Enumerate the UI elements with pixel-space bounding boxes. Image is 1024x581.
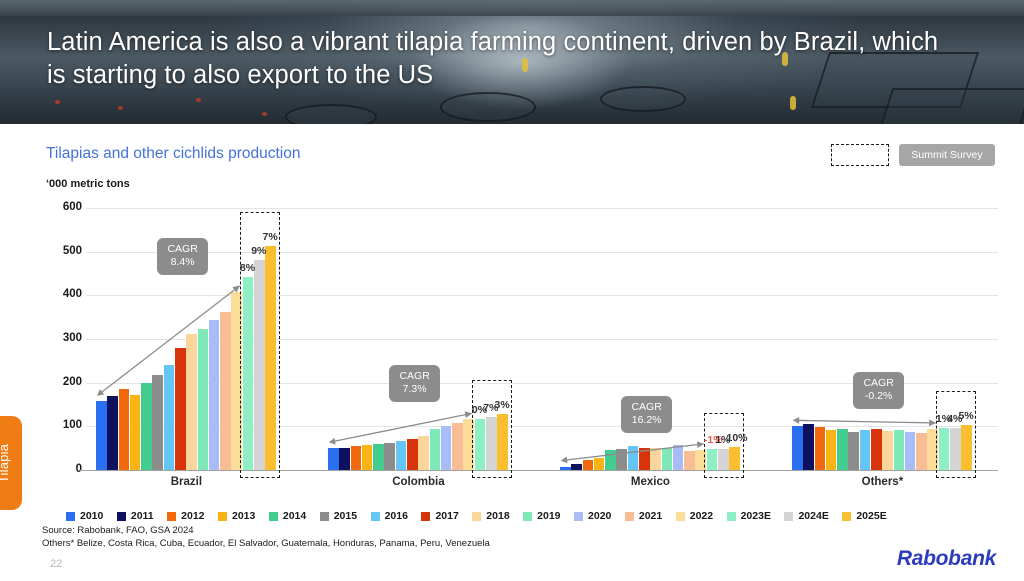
y-axis-tick: 300 (40, 332, 82, 344)
page-number: 22 (50, 558, 62, 570)
chart-unit-label: ‘000 metric tons (46, 178, 130, 190)
legend-swatch-icon (842, 512, 851, 521)
legend-label: 2014 (283, 510, 306, 522)
legend-swatch-icon (625, 512, 634, 521)
legend-item-2010[interactable]: 2010 (66, 510, 103, 522)
x-axis-category-label: Others* (792, 476, 973, 488)
forecast-key-box (831, 144, 889, 166)
buoy-icon (55, 100, 60, 104)
cagr-trend-arrow (86, 208, 998, 470)
legend-item-2025E[interactable]: 2025E (842, 510, 886, 522)
x-axis-line (80, 470, 998, 471)
legend-item-2012[interactable]: 2012 (167, 510, 204, 522)
banner-divider (0, 124, 1024, 126)
legend-swatch-icon (784, 512, 793, 521)
legend-item-2013[interactable]: 2013 (218, 510, 255, 522)
y-axis-tick: 100 (40, 419, 82, 431)
legend-label: 2023E (741, 510, 771, 522)
legend-label: 2015 (334, 510, 357, 522)
legend-item-2018[interactable]: 2018 (472, 510, 509, 522)
legend-swatch-icon (574, 512, 583, 521)
legend-label: 2021 (639, 510, 662, 522)
legend-label: 2022 (690, 510, 713, 522)
legend-swatch-icon (218, 512, 227, 521)
section-tab-tilapia[interactable]: Tilapia (0, 416, 22, 510)
section-tab-label: Tilapia (0, 443, 12, 482)
legend-label: 2012 (181, 510, 204, 522)
buoy-icon (262, 112, 267, 116)
legend-label: 2025E (856, 510, 886, 522)
legend-label: 2013 (232, 510, 255, 522)
legend-swatch-icon (472, 512, 481, 521)
legend-item-2017[interactable]: 2017 (421, 510, 458, 522)
chart-plot-area: Brazil8%9%7%CAGR8.4%Colombia0%7%3%CAGR7.… (86, 208, 998, 470)
legend-swatch-icon (269, 512, 278, 521)
fish-cage-icon (285, 104, 377, 124)
legend-label: 2011 (131, 510, 154, 522)
y-axis-tick: 600 (40, 201, 82, 213)
legend-swatch-icon (523, 512, 532, 521)
legend-item-2020[interactable]: 2020 (574, 510, 611, 522)
legend-item-2019[interactable]: 2019 (523, 510, 560, 522)
legend-item-2023E[interactable]: 2023E (727, 510, 771, 522)
summit-survey-badge[interactable]: Summit Survey (899, 144, 995, 166)
legend-item-2014[interactable]: 2014 (269, 510, 306, 522)
legend-swatch-icon (167, 512, 176, 521)
x-axis-category-label: Colombia (328, 476, 509, 488)
legend-swatch-icon (66, 512, 75, 521)
header-banner-photo: Latin America is also a vibrant tilapia … (0, 0, 1024, 124)
legend-label: 2016 (385, 510, 408, 522)
y-axis-tick: 400 (40, 288, 82, 300)
chart-legend: 2010201120122013201420152016201720182019… (66, 509, 1010, 523)
others-footnote: Others* Belize, Costa Rica, Cuba, Ecuado… (42, 538, 490, 549)
legend-swatch-icon (421, 512, 430, 521)
legend-label: 2024E (798, 510, 828, 522)
legend-item-2024E[interactable]: 2024E (784, 510, 828, 522)
fish-cage-icon (878, 88, 1024, 124)
buoy-icon (790, 96, 796, 110)
legend-label: 2020 (588, 510, 611, 522)
legend-item-2011[interactable]: 2011 (117, 510, 154, 522)
legend-swatch-icon (117, 512, 126, 521)
legend-label: 2018 (486, 510, 509, 522)
y-axis-tick: 500 (40, 245, 82, 257)
legend-item-2022[interactable]: 2022 (676, 510, 713, 522)
legend-swatch-icon (371, 512, 380, 521)
legend-item-2015[interactable]: 2015 (320, 510, 357, 522)
slide-headline: Latin America is also a vibrant tilapia … (47, 26, 947, 92)
y-axis-tick: 0 (40, 463, 82, 475)
y-axis-tick-labels: 0100200300400500600 (40, 208, 82, 470)
buoy-icon (118, 106, 123, 110)
chart-title: Tilapias and other cichlids production (46, 145, 300, 163)
legend-label: 2017 (435, 510, 458, 522)
legend-item-2016[interactable]: 2016 (371, 510, 408, 522)
source-note: Source: Rabobank, FAO, GSA 2024 (42, 525, 194, 536)
buoy-icon (196, 98, 201, 102)
fish-cage-icon (440, 92, 536, 122)
x-axis-category-label: Mexico (560, 476, 741, 488)
legend-label: 2019 (537, 510, 560, 522)
legend-swatch-icon (727, 512, 736, 521)
legend-swatch-icon (676, 512, 685, 521)
slide: Latin America is also a vibrant tilapia … (0, 0, 1024, 581)
legend-swatch-icon (320, 512, 329, 521)
x-axis-category-label: Brazil (96, 476, 277, 488)
legend-item-2021[interactable]: 2021 (625, 510, 662, 522)
rabobank-logo: Rabobank (897, 547, 996, 571)
legend-label: 2010 (80, 510, 103, 522)
y-axis-tick: 200 (40, 376, 82, 388)
